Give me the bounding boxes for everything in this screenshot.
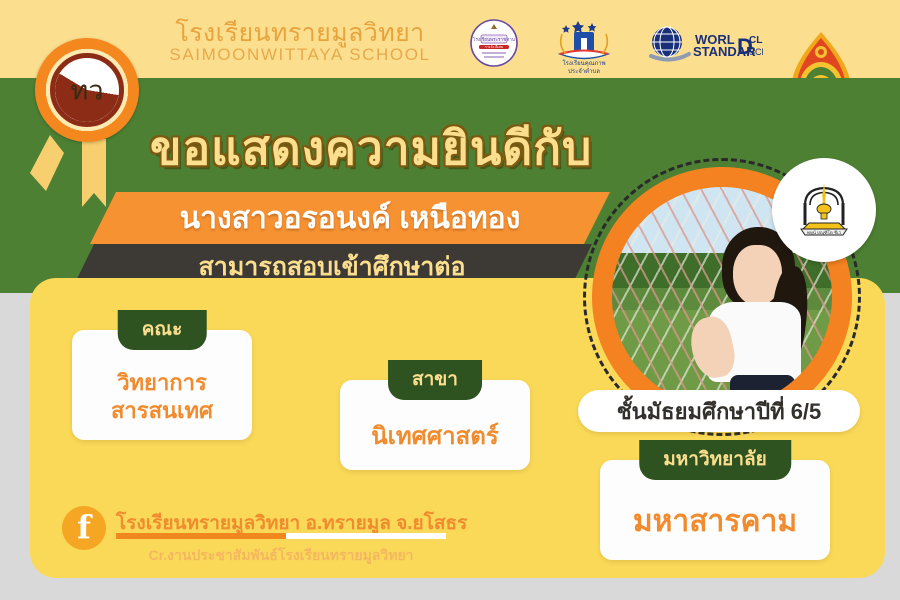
major-card-body: นิเทศศาสตร์ — [340, 404, 530, 470]
faculty-line-2: สารสนเทศ — [111, 397, 213, 425]
grade-badge: ชั้นมัธยมศึกษาปีที่ 6/5 — [578, 390, 860, 432]
university-card-body: มหาสารคาม — [600, 484, 830, 560]
svg-text:โรงเรียนคุณภาพ: โรงเรียนคุณภาพ — [562, 59, 605, 67]
school-name-english: SAIMOONWITTAYA SCHOOL — [150, 46, 450, 64]
congratulations-poster: โรงเรียนทรายมูลวิทยา SAIMOONWITTAYA SCHO… — [0, 0, 900, 600]
faculty-card: คณะ วิทยาการ สารสนเทศ — [72, 330, 252, 440]
student-name-banner: นางสาวอรอนงค์ เหนือทอง — [90, 192, 610, 244]
major-line-1: นิเทศศาสตร์ — [371, 422, 499, 453]
major-card-tab: สาขา — [388, 360, 482, 400]
footer-divider-fill — [116, 533, 286, 539]
student-name: นางสาวอรอนงค์ เหนือทอง — [90, 192, 610, 244]
footer-credit: Cr.งานประชาสัมพันธ์โรงเรียนทรายมูลวิทยา — [116, 545, 446, 567]
school-name: โรงเรียนทรายมูลวิทยา SAIMOONWITTAYA SCHO… — [150, 20, 450, 64]
faculty-card-body: วิทยาการ สารสนเทศ — [72, 354, 252, 440]
page-title: ขอแสดงความยินดีกับ — [150, 112, 670, 174]
svg-text:พหูนํ ปณฺฑิโต ชีเว: พหูนํ ปณฺฑิโต ชีเว — [807, 229, 841, 236]
facebook-glyph: f — [77, 511, 91, 543]
university-card-tab: มหาวิทยาลัย — [639, 440, 791, 480]
mahasarakham-university-logo: พหูนํ ปณฺฑิโต ชีเว — [772, 158, 876, 262]
award-rosette: ทว — [35, 38, 139, 142]
world-class-standard-school-logo: WORL STANDAR CLASS SCHOOL D — [645, 26, 763, 64]
quality-school-logo: โรงเรียนคุณภาพ ประจำตำบล — [548, 14, 620, 76]
facebook-icon[interactable]: f — [62, 506, 106, 550]
svg-text:D: D — [737, 34, 753, 59]
university-pavilion-icon: พหูนํ ปณฺฑิโต ชีเว — [793, 179, 855, 241]
rosette-inner: ทว — [50, 53, 124, 127]
university-card: มหาวิทยาลัย มหาสารคาม — [600, 460, 830, 560]
rosette-emblem: ทว — [71, 78, 104, 105]
footer-divider — [116, 533, 446, 539]
faculty-card-tab: คณะ — [118, 310, 207, 350]
svg-text:โรงเรียนพระราชทาน: โรงเรียนพระราชทาน — [473, 36, 516, 42]
faculty-line-1: วิทยาการ — [117, 369, 207, 397]
svg-text:ประจำตำบล: ประจำตำบล — [568, 68, 600, 75]
school-seal-logo: โรงเรียนพระราชทาน รางวัล ดีเด่น — [468, 18, 520, 68]
school-name-thai: โรงเรียนทรายมูลวิทยา — [150, 20, 450, 46]
major-card: สาขา นิเทศศาสตร์ — [340, 380, 530, 470]
svg-text:รางวัล ดีเด่น: รางวัล ดีเด่น — [485, 44, 504, 49]
university-line-1: มหาสารคาม — [633, 503, 797, 541]
